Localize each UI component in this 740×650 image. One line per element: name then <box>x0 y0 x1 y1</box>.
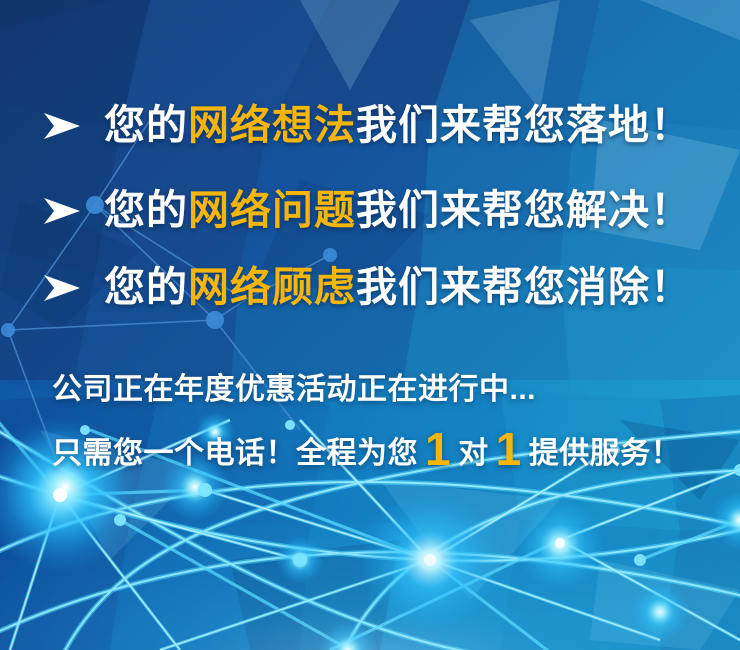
bullet-highlight-3: 网络顾虑 <box>188 264 356 310</box>
banner-content: 您的网络想法我们来帮您落地！ 您的网络问题我们来帮您解决！ 您的网络顾虑我们来帮… <box>0 0 740 650</box>
subline2-part-3: 提供服务！ <box>529 428 682 472</box>
bullet-prefix-3: 您的 <box>104 264 188 310</box>
arrow-right-icon <box>42 194 82 228</box>
promo-subline-2: 只需您一个电话！全程为您 1 对 1 提供服务！ <box>52 428 681 472</box>
arrow-right-icon <box>42 271 82 305</box>
promo-subline-1: 公司正在年度优惠活动正在进行中... <box>52 364 536 408</box>
subline2-part-1: 只需您一个电话！全程为您 <box>52 428 418 472</box>
bullet-highlight-2: 网络问题 <box>188 187 356 233</box>
promo-banner: 您的网络想法我们来帮您落地！ 您的网络问题我们来帮您解决！ 您的网络顾虑我们来帮… <box>0 0 740 650</box>
bullet-prefix-2: 您的 <box>104 187 188 233</box>
bullet-suffix-2: 我们来帮您解决！ <box>356 187 692 233</box>
bullet-suffix-1: 我们来帮您落地！ <box>356 102 692 148</box>
bullet-highlight-1: 网络想法 <box>188 102 356 148</box>
bullet-row-3: 您的网络顾虑我们来帮您消除！ <box>42 267 692 308</box>
bullet-prefix-1: 您的 <box>104 102 188 148</box>
subline2-part-2: 对 <box>458 428 489 472</box>
arrow-right-icon <box>42 109 82 143</box>
bullet-text-2: 您的网络问题我们来帮您解决！ <box>104 190 692 231</box>
bullet-text-3: 您的网络顾虑我们来帮您消除！ <box>104 267 692 308</box>
bullet-suffix-3: 我们来帮您消除！ <box>356 264 692 310</box>
bullet-text-1: 您的网络想法我们来帮您落地！ <box>104 105 692 146</box>
bullet-row-2: 您的网络问题我们来帮您解决！ <box>42 190 692 231</box>
bullet-row-1: 您的网络想法我们来帮您落地！ <box>42 105 692 146</box>
